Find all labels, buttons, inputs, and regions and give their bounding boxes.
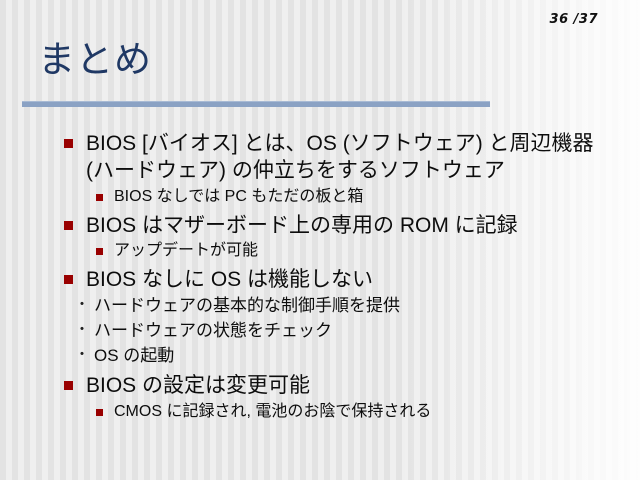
list-item: ・ ハードウェアの基本的な制御手順を提供 — [0, 294, 640, 319]
list-item-label: CMOS に記録され, 電池のお陰で保持される — [114, 401, 431, 422]
list-item: BIOS はマザーボード上の専用の ROM に記録 — [0, 212, 640, 239]
middle-dot-icon: ・ — [74, 319, 90, 341]
list-item-label: BIOS の設定は変更可能 — [86, 372, 310, 399]
title-divider — [22, 101, 490, 107]
list-item: ・ ハードウェアの状態をチェック — [0, 319, 640, 344]
small-square-bullet-icon — [96, 409, 103, 416]
small-square-bullet-icon — [96, 194, 103, 201]
middle-dot-icon: ・ — [74, 344, 90, 366]
list-item-label: BIOS なしでは PC もただの板と箱 — [114, 186, 363, 207]
list-item: BIOS なしに OS は機能しない — [0, 266, 640, 293]
small-square-bullet-icon — [96, 248, 103, 255]
bullet-list: BIOS [バイオス] とは、OS (ソフトウェア) と周辺機器 (ハードウェア… — [0, 130, 640, 423]
square-bullet-icon — [64, 139, 73, 148]
list-item: BIOS なしでは PC もただの板と箱 — [0, 186, 640, 207]
list-item: BIOS [バイオス] とは、OS (ソフトウェア) と周辺機器 (ハードウェア… — [0, 130, 640, 185]
presentation-slide: 36 /37 まとめ BIOS [バイオス] とは、OS (ソフトウェア) と周… — [0, 0, 640, 480]
list-item-label: BIOS なしに OS は機能しない — [86, 266, 373, 293]
list-item-label: BIOS はマザーボード上の専用の ROM に記録 — [86, 212, 518, 239]
list-item: BIOS の設定は変更可能 — [0, 372, 640, 399]
square-bullet-icon — [64, 381, 73, 390]
list-item-label: アップデートが可能 — [114, 240, 258, 261]
middle-dot-icon: ・ — [74, 294, 90, 316]
list-item-label: ハードウェアの状態をチェック — [90, 319, 332, 344]
square-bullet-icon — [64, 275, 73, 284]
list-item: CMOS に記録され, 電池のお陰で保持される — [0, 401, 640, 422]
list-item: アップデートが可能 — [0, 240, 640, 261]
list-item: ・ OS の起動 — [0, 344, 640, 369]
list-item-label: OS の起動 — [90, 344, 174, 369]
square-bullet-icon — [64, 221, 73, 230]
list-item-label: ハードウェアの基本的な制御手順を提供 — [90, 294, 400, 319]
page-number: 36 /37 — [550, 12, 598, 27]
list-item-label: BIOS [バイオス] とは、OS (ソフトウェア) と周辺機器 (ハードウェア… — [86, 130, 598, 185]
page-title: まとめ — [38, 41, 152, 80]
